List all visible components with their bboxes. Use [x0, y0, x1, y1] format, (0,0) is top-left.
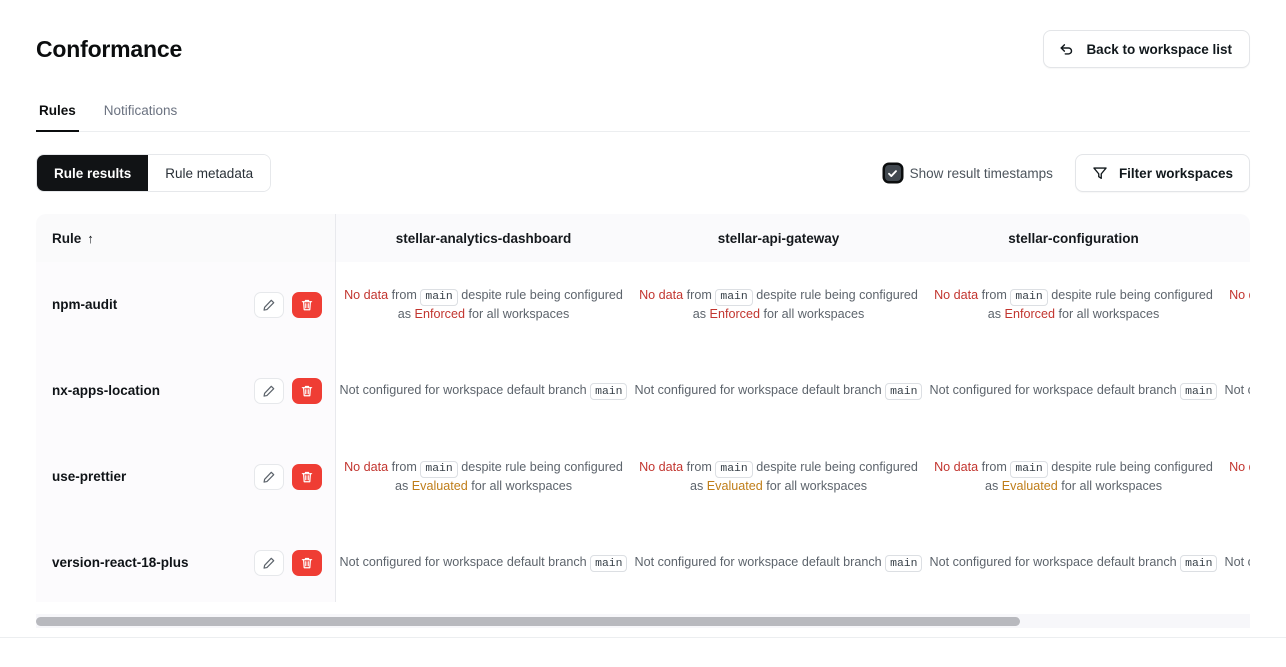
table-body: npm-auditNo data from main despite rule …: [36, 262, 1250, 602]
edit-rule-button[interactable]: [254, 378, 284, 404]
result-cell: No data from main despite rule being con…: [336, 262, 631, 348]
column-header-rule-label: Rule: [52, 231, 81, 246]
rule-actions: [254, 292, 322, 318]
table-header-row: Rule ↑ stellar-analytics-dashboard stell…: [36, 214, 1250, 262]
table-row: npm-auditNo data from main despite rule …: [36, 262, 1250, 348]
branch-token: main: [1180, 555, 1217, 572]
cell-message: Not configured for workspace default bra…: [1225, 383, 1250, 397]
no-data-token: No data: [934, 460, 978, 474]
toolbar: Rule results Rule metadata Show result t…: [36, 154, 1250, 192]
horizontal-scrollbar[interactable]: [36, 614, 1250, 628]
tab-bar: Rules Notifications: [36, 98, 1250, 132]
result-cell: No data from main despite rule being con…: [631, 262, 926, 348]
trash-icon: [300, 298, 314, 312]
column-header-workspace-3[interactable]: stellar-design-system: [1221, 214, 1250, 262]
trash-icon: [300, 470, 314, 484]
rule-name: version-react-18-plus: [52, 554, 189, 572]
branch-token: main: [885, 555, 922, 572]
no-data-token: No data: [1229, 460, 1250, 474]
cell-message: Not configured for workspace default bra…: [930, 383, 1218, 397]
branch-token: main: [885, 383, 922, 400]
cell-message: Not configured for workspace default bra…: [930, 555, 1218, 569]
no-data-token: No data: [639, 460, 683, 474]
trash-icon: [300, 384, 314, 398]
segment-rule-metadata[interactable]: Rule metadata: [148, 155, 270, 191]
no-data-token: No data: [344, 288, 388, 302]
result-cell: Not configured for workspace default bra…: [926, 520, 1221, 602]
column-header-rule[interactable]: Rule ↑: [36, 214, 336, 262]
result-cell: Not configured for workspace default bra…: [336, 520, 631, 602]
conformance-table-wrapper: Rule ↑ stellar-analytics-dashboard stell…: [36, 214, 1250, 602]
no-data-token: No data: [1229, 288, 1250, 302]
edit-rule-button[interactable]: [254, 550, 284, 576]
pencil-icon: [262, 384, 276, 398]
branch-token: main: [590, 555, 627, 572]
tab-notifications[interactable]: Notifications: [101, 98, 181, 132]
checkbox-box[interactable]: [885, 165, 901, 181]
result-cell: No data from main despite rule being con…: [631, 434, 926, 520]
branch-token: main: [1180, 383, 1217, 400]
view-mode-segmented-control: Rule results Rule metadata: [36, 154, 271, 192]
trash-icon: [300, 556, 314, 570]
rule-cell: use-prettier: [36, 434, 336, 520]
cell-message: No data from main despite rule being con…: [639, 288, 918, 321]
conformance-table: Rule ↑ stellar-analytics-dashboard stell…: [36, 214, 1250, 602]
rule-cell: nx-apps-location: [36, 348, 336, 434]
back-button-label: Back to workspace list: [1086, 42, 1232, 57]
conformance-table-scroll[interactable]: Rule ↑ stellar-analytics-dashboard stell…: [36, 214, 1250, 602]
no-data-token: No data: [934, 288, 978, 302]
cell-message: Not configured for workspace default bra…: [340, 383, 628, 397]
cell-message: No data from main despite rule being con…: [344, 460, 623, 493]
column-header-workspace-2[interactable]: stellar-configuration: [926, 214, 1221, 262]
branch-token: main: [1010, 289, 1047, 306]
filter-button-label: Filter workspaces: [1119, 166, 1233, 181]
status-token: Enforced: [415, 307, 465, 321]
cell-message: No data from main despite rule being con…: [639, 460, 918, 493]
column-header-workspace-0[interactable]: stellar-analytics-dashboard: [336, 214, 631, 262]
rule-name: use-prettier: [52, 468, 126, 486]
result-cell: Not configured for workspace default bra…: [1221, 520, 1250, 602]
result-cell: Not configured for workspace default bra…: [631, 348, 926, 434]
table-row: nx-apps-locationNot configured for works…: [36, 348, 1250, 434]
result-cell: No data from main despite rule being con…: [926, 434, 1221, 520]
cell-message: No data from main despite rule being con…: [1229, 288, 1250, 321]
no-data-token: No data: [344, 460, 388, 474]
page-title: Conformance: [36, 36, 182, 63]
branch-token: main: [715, 289, 752, 306]
delete-rule-button[interactable]: [292, 292, 322, 318]
back-to-workspace-list-button[interactable]: Back to workspace list: [1043, 30, 1250, 68]
result-cell: No data from main despite rule being con…: [1221, 434, 1250, 520]
show-result-timestamps-checkbox[interactable]: Show result timestamps: [885, 165, 1053, 181]
rule-name: npm-audit: [52, 296, 117, 314]
cell-message: No data from main despite rule being con…: [934, 460, 1213, 493]
cell-message: No data from main despite rule being con…: [1229, 460, 1250, 493]
edit-rule-button[interactable]: [254, 464, 284, 490]
conformance-page: Conformance Back to workspace list Rules…: [0, 0, 1286, 667]
rule-actions: [254, 464, 322, 490]
rule-actions: [254, 378, 322, 404]
sort-ascending-icon: ↑: [87, 231, 94, 246]
no-data-token: No data: [639, 288, 683, 302]
page-header: Conformance Back to workspace list: [36, 0, 1250, 78]
rule-cell: version-react-18-plus: [36, 520, 336, 602]
status-token: Evaluated: [707, 479, 763, 493]
branch-token: main: [715, 461, 752, 478]
result-cell: No data from main despite rule being con…: [336, 434, 631, 520]
cell-message: Not configured for workspace default bra…: [1225, 555, 1250, 569]
delete-rule-button[interactable]: [292, 378, 322, 404]
branch-token: main: [590, 383, 627, 400]
status-token: Enforced: [1005, 307, 1055, 321]
back-arrow-icon: [1058, 41, 1075, 58]
branch-token: main: [1010, 461, 1047, 478]
status-token: Evaluated: [412, 479, 468, 493]
table-row: version-react-18-plusNot configured for …: [36, 520, 1250, 602]
branch-token: main: [420, 289, 457, 306]
column-header-workspace-1[interactable]: stellar-api-gateway: [631, 214, 926, 262]
pencil-icon: [262, 470, 276, 484]
tab-rules[interactable]: Rules: [36, 98, 79, 132]
segment-rule-results[interactable]: Rule results: [37, 155, 148, 191]
table-head: Rule ↑ stellar-analytics-dashboard stell…: [36, 214, 1250, 262]
cell-message: Not configured for workspace default bra…: [635, 383, 923, 397]
bottom-divider: [0, 637, 1286, 638]
cell-message: Not configured for workspace default bra…: [340, 555, 628, 569]
check-icon: [887, 168, 898, 179]
toolbar-right-group: Show result timestamps Filter workspaces: [885, 154, 1250, 192]
pencil-icon: [262, 556, 276, 570]
delete-rule-button[interactable]: [292, 464, 322, 490]
result-cell: Not configured for workspace default bra…: [631, 520, 926, 602]
funnel-icon: [1092, 165, 1108, 181]
horizontal-scrollbar-thumb[interactable]: [36, 617, 1020, 626]
result-cell: No data from main despite rule being con…: [1221, 262, 1250, 348]
rule-cell: npm-audit: [36, 262, 336, 348]
rule-actions: [254, 550, 322, 576]
table-row: use-prettierNo data from main despite ru…: [36, 434, 1250, 520]
cell-message: Not configured for workspace default bra…: [635, 555, 923, 569]
delete-rule-button[interactable]: [292, 550, 322, 576]
cell-message: No data from main despite rule being con…: [344, 288, 623, 321]
status-token: Evaluated: [1002, 479, 1058, 493]
result-cell: Not configured for workspace default bra…: [926, 348, 1221, 434]
result-cell: No data from main despite rule being con…: [926, 262, 1221, 348]
pencil-icon: [262, 298, 276, 312]
edit-rule-button[interactable]: [254, 292, 284, 318]
status-token: Enforced: [710, 307, 760, 321]
filter-workspaces-button[interactable]: Filter workspaces: [1075, 154, 1250, 192]
cell-message: No data from main despite rule being con…: [934, 288, 1213, 321]
result-cell: Not configured for workspace default bra…: [336, 348, 631, 434]
result-cell: Not configured for workspace default bra…: [1221, 348, 1250, 434]
checkbox-label: Show result timestamps: [910, 166, 1053, 181]
branch-token: main: [420, 461, 457, 478]
rule-name: nx-apps-location: [52, 382, 160, 400]
